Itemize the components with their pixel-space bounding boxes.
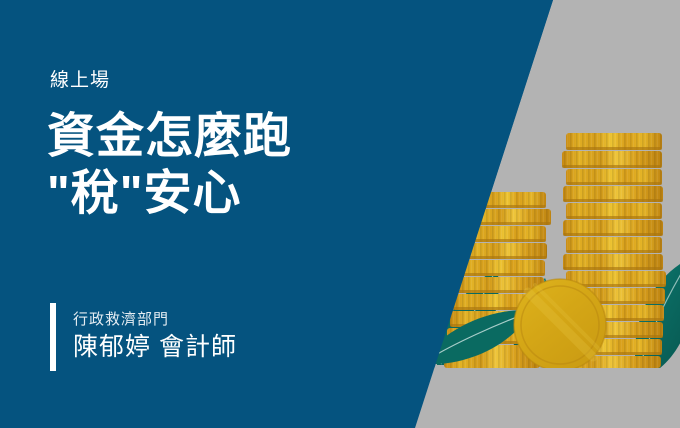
page-title-line-2: "稅"安心 <box>47 170 242 218</box>
speaker-text: 行政救濟部門 陳郁婷 會計師 <box>73 311 237 363</box>
speaker-block: 行政救濟部門 陳郁婷 會計師 <box>50 303 237 371</box>
seminar-banner: 線上場 資金怎麼跑 "稅"安心 行政救濟部門 陳郁婷 會計師 <box>0 0 680 428</box>
kicker-label: 線上場 <box>50 71 110 90</box>
accent-bar <box>50 303 56 371</box>
speaker-name-title: 陳郁婷 會計師 <box>73 332 237 363</box>
speaker-department: 行政救濟部門 <box>73 311 237 330</box>
page-title-line-1: 資金怎麼跑 <box>47 113 292 161</box>
